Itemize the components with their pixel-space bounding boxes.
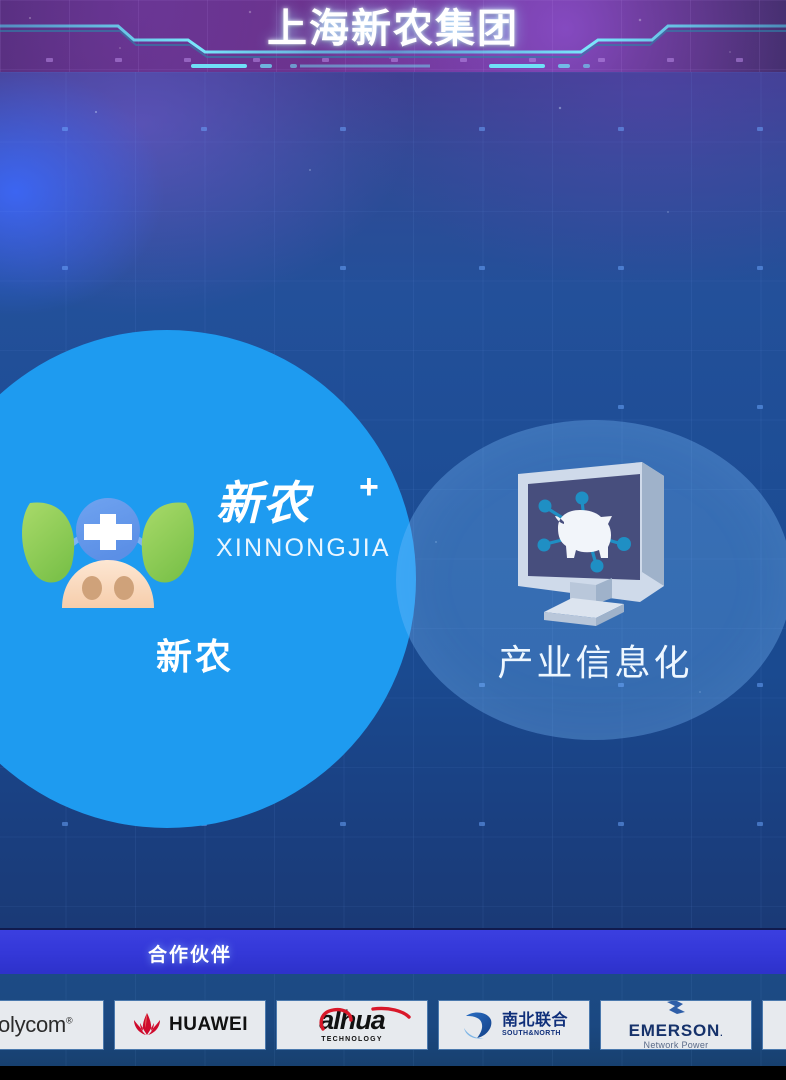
huawei-flower-icon: [132, 1011, 162, 1039]
main-canvas: 新农 + XINNONGJIA 新农: [0, 72, 786, 928]
partners-strip: Polycom® HUAWEI: [0, 974, 786, 1066]
partner-logo-huawei[interactable]: HUAWEI: [114, 1000, 266, 1050]
south-north-lockup: 南北联合 SOUTH&NORTH: [460, 1008, 568, 1042]
page-title: 上海新农集团: [0, 0, 786, 54]
partner-logo-emerson[interactable]: EMERSON. Network Power: [600, 1000, 752, 1050]
dahua-tagline: TECHNOLOGY: [319, 1036, 385, 1043]
app-root: 上海新农集团: [0, 0, 786, 1080]
partner-logo-polycom[interactable]: Polycom®: [0, 1000, 104, 1050]
dahua-swoosh-icon: [317, 1005, 428, 1035]
south-north-wordmark-cn: 南北联合: [502, 1013, 568, 1030]
panel-xinnong-label: 新农: [0, 628, 390, 680]
partners-label: 合作伙伴: [148, 940, 232, 967]
footer-bar: [0, 1066, 786, 1080]
xinnong-wordmark: 新农 + XINNONGJIA: [216, 480, 406, 563]
polycom-wordmark: Polycom®: [0, 1012, 72, 1038]
emerson-wordmark: EMERSON.: [629, 1021, 724, 1041]
partner-logo-globe[interactable]: [762, 1000, 786, 1050]
dahua-lockup: alhua TECHNOLOGY: [319, 1007, 385, 1043]
panel-industry-label: 产业信息化: [430, 634, 760, 686]
huawei-lockup: HUAWEI: [132, 1011, 248, 1039]
south-north-wordmark-en: SOUTH&NORTH: [502, 1030, 568, 1037]
pig-leaf-plus-icon: [8, 468, 208, 618]
huawei-wordmark: HUAWEI: [169, 1014, 248, 1036]
xinnong-logo: 新农 + XINNONGJIA: [8, 468, 398, 618]
emerson-lockup: EMERSON. Network Power: [629, 1000, 724, 1050]
xinnong-plus-mark: +: [359, 470, 379, 504]
monitor-pig-network-icon: [500, 454, 680, 629]
partners-band: 合作伙伴: [0, 928, 786, 978]
page-header: 上海新农集团: [0, 0, 786, 72]
south-north-globe-icon: [460, 1008, 496, 1042]
partner-logo-south-north[interactable]: 南北联合 SOUTH&NORTH: [438, 1000, 590, 1050]
partner-logo-dahua[interactable]: alhua TECHNOLOGY: [276, 1000, 428, 1050]
xinnong-wordmark-en: XINNONGJIA: [216, 534, 406, 563]
partner-logos-row: Polycom® HUAWEI: [0, 1000, 786, 1050]
emerson-tagline: Network Power: [629, 1040, 724, 1050]
emerson-mark-icon: [665, 1000, 687, 1015]
